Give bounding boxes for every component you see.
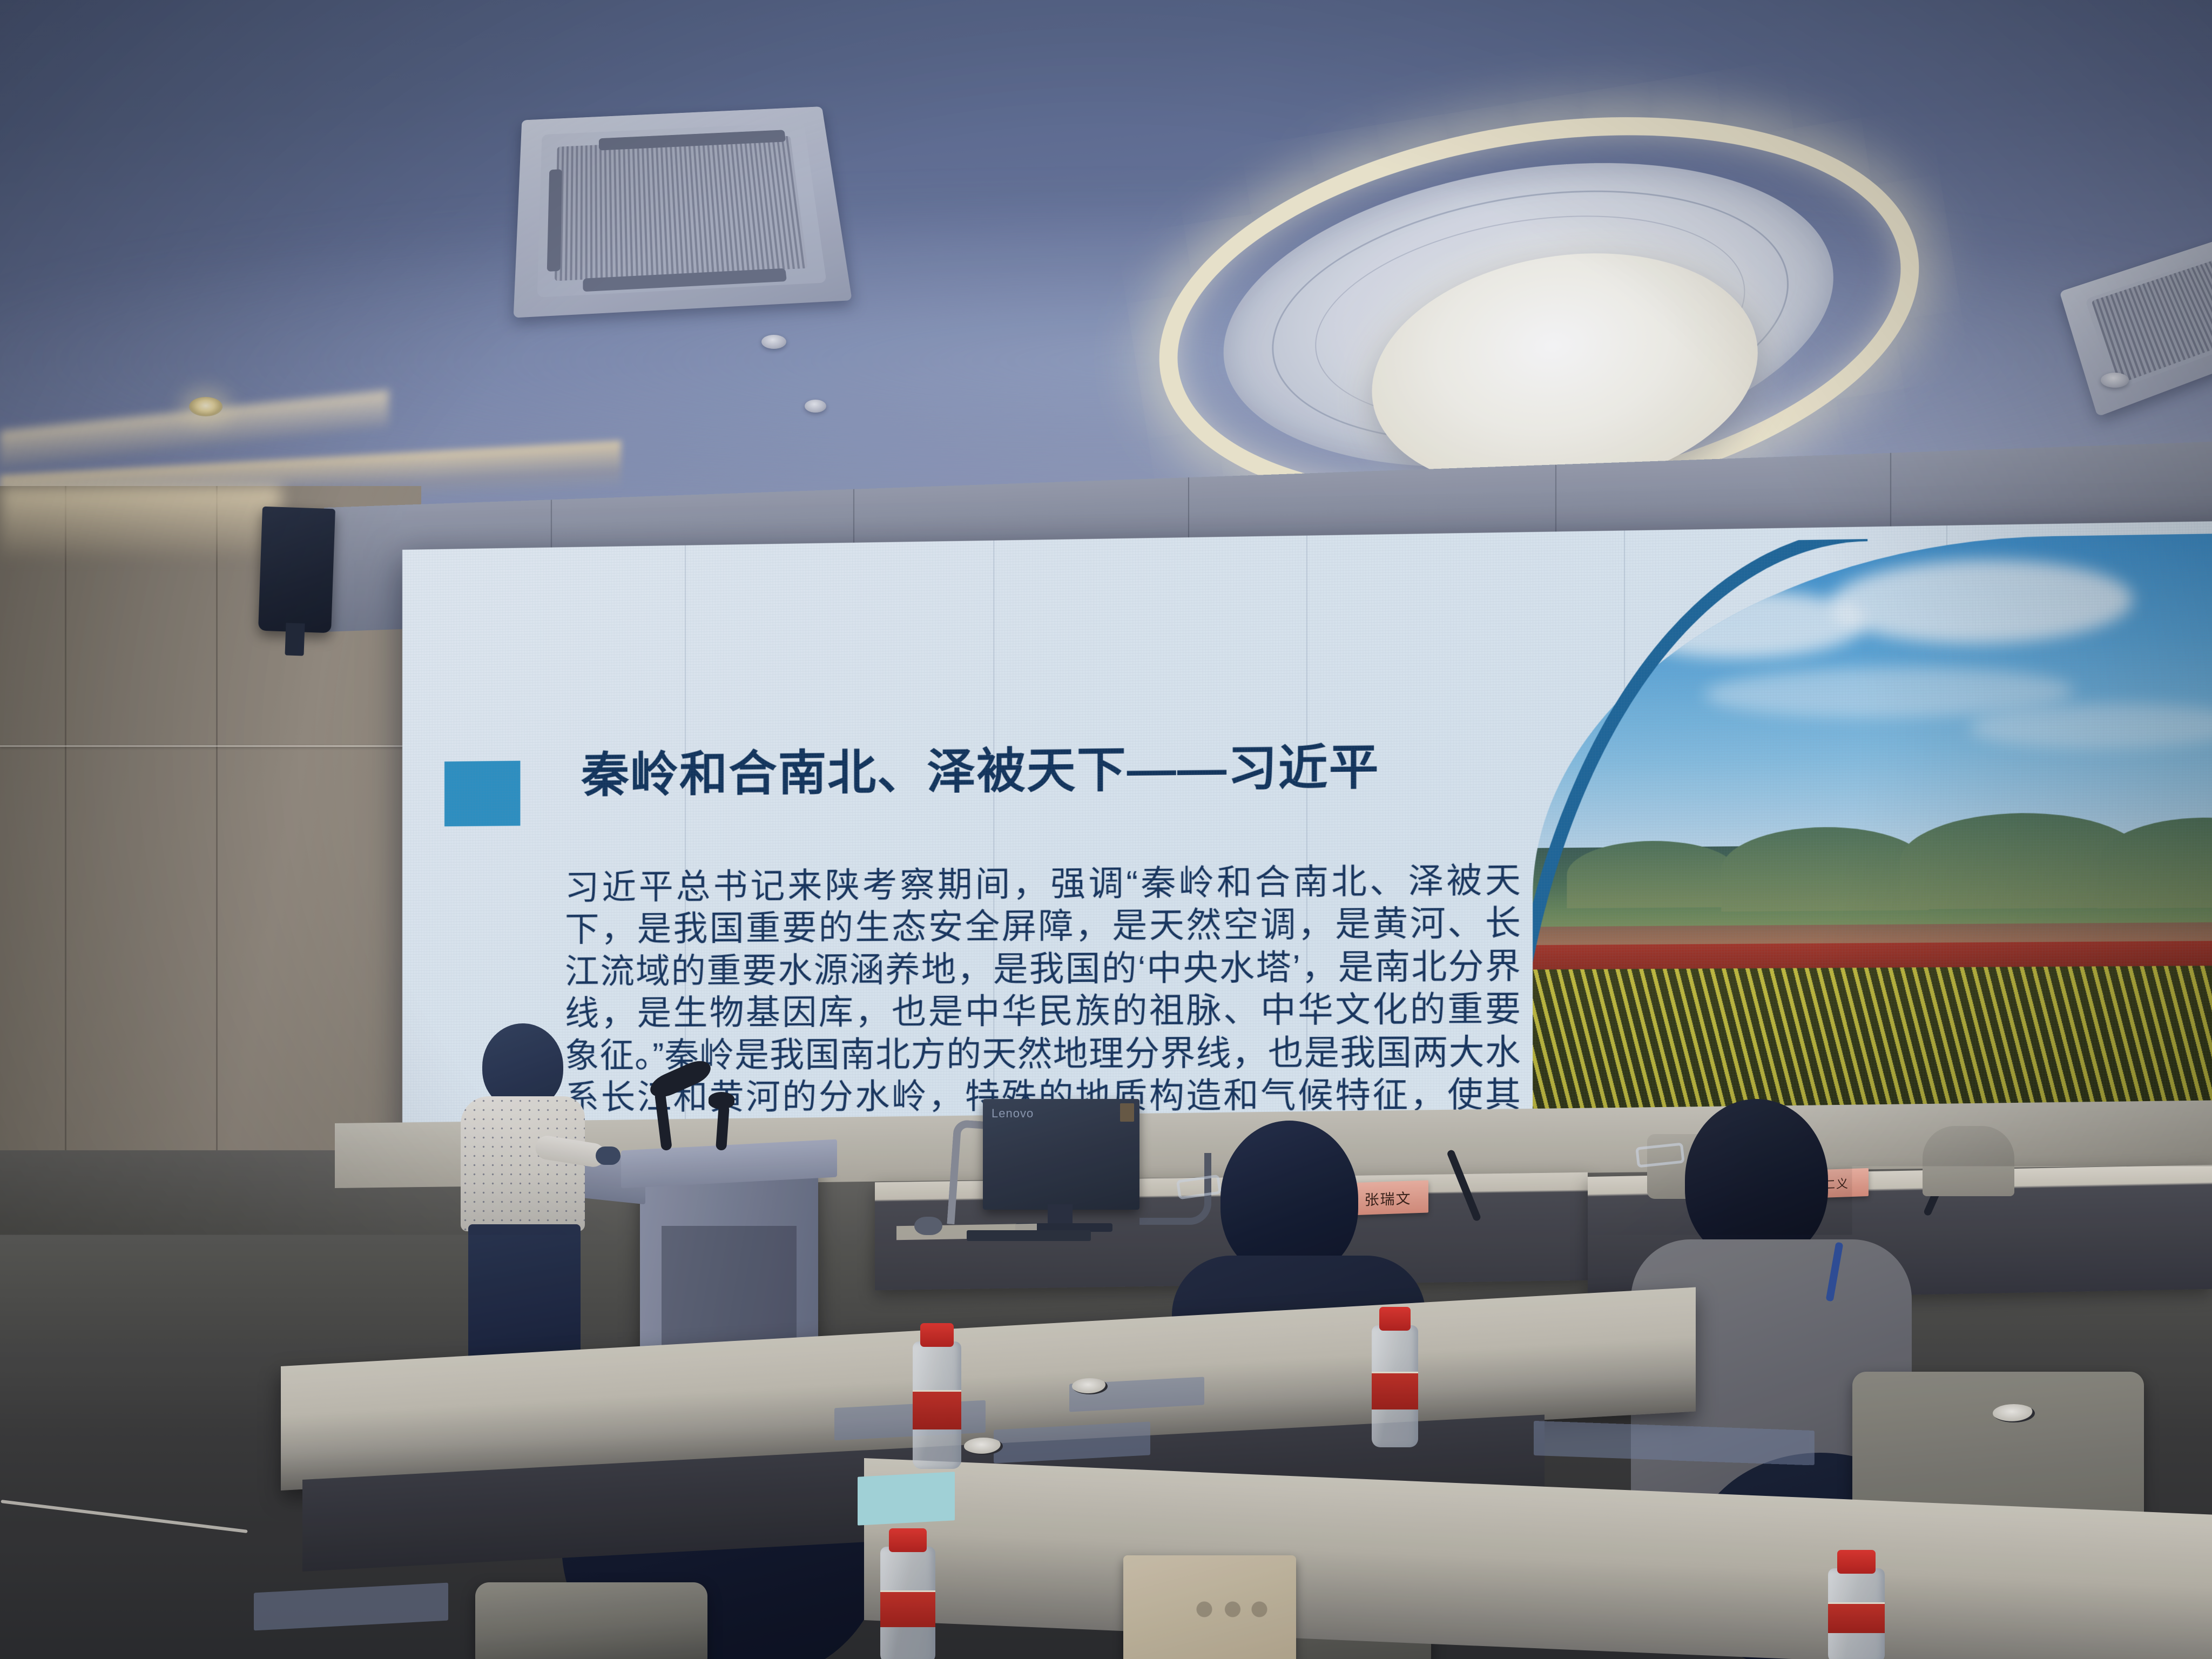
conference-room-photo: 秦岭和合南北、泽被天下——习近平 习近平总书记来陕考察期间，强调“秦岭和合南北、… <box>0 0 2212 1659</box>
water-bottle-5-label <box>2052 1418 2095 1452</box>
water-bottle-1-label <box>913 1390 961 1429</box>
led-pixel-grid <box>402 521 2212 1155</box>
coaster-3 <box>1993 1404 2035 1422</box>
speaker-mount-left <box>285 623 305 656</box>
water-bottle-5-cap <box>2059 1361 2088 1385</box>
smoke-detector-3 <box>2101 373 2129 388</box>
smoke-detector-2 <box>805 400 826 413</box>
water-bottle-5[interactable] <box>2052 1361 2095 1485</box>
water-bottle-1-cap <box>920 1323 953 1347</box>
attendee-dark-shirt-head <box>1220 1121 1358 1277</box>
water-bottle-3-label <box>880 1590 935 1627</box>
chair-back-2[interactable] <box>1923 1126 2014 1196</box>
water-bottle-2[interactable] <box>1372 1307 1418 1447</box>
tote-bag <box>1123 1555 1296 1659</box>
attendee-grey-shirt-head <box>1685 1099 1828 1261</box>
led-video-wall: 秦岭和合南北、泽被天下——习近平 习近平总书记来陕考察期间，强调“秦岭和合南北、… <box>402 521 2212 1155</box>
ac-grille <box>555 136 808 281</box>
coaster-2 <box>964 1438 1003 1455</box>
chair-foreground-3[interactable] <box>475 1582 707 1659</box>
monitor-sticker <box>1120 1103 1134 1122</box>
water-bottle-3-cap <box>889 1528 926 1552</box>
water-bottle-3[interactable] <box>880 1528 935 1659</box>
left-wall-cove-glow <box>0 486 281 556</box>
blue-paper <box>858 1472 955 1525</box>
presenter-hand-clicker <box>596 1147 621 1165</box>
water-bottle-2-label <box>1372 1372 1418 1410</box>
presenter-blouse <box>461 1096 585 1231</box>
water-bottle-4-label <box>1828 1602 1885 1634</box>
tote-bag-logo <box>1188 1593 1269 1626</box>
lenovo-monitor[interactable]: Lenovo <box>983 1099 1139 1210</box>
ac-vane-left <box>547 169 562 272</box>
water-bottle-4-cap <box>1837 1550 1876 1574</box>
water-bottle-4[interactable] <box>1828 1550 1885 1659</box>
water-bottle-1[interactable] <box>913 1323 961 1469</box>
computer-mouse[interactable] <box>914 1217 942 1235</box>
water-bottle-2-cap <box>1379 1307 1411 1331</box>
podium-microphone-2-head <box>709 1092 734 1109</box>
smoke-detector-1 <box>761 335 786 349</box>
coaster-1 <box>1072 1378 1108 1394</box>
monitor-brand-label: Lenovo <box>992 1107 1034 1121</box>
wall-seam-h1 <box>0 745 421 747</box>
wall-speaker-left <box>258 507 335 633</box>
presenter <box>456 1023 591 1391</box>
computer-keyboard[interactable] <box>967 1230 1091 1241</box>
ceiling-cassette-ac-left <box>514 106 852 318</box>
downlight-1 <box>189 397 222 416</box>
presenter-blouse-pattern <box>461 1096 585 1231</box>
